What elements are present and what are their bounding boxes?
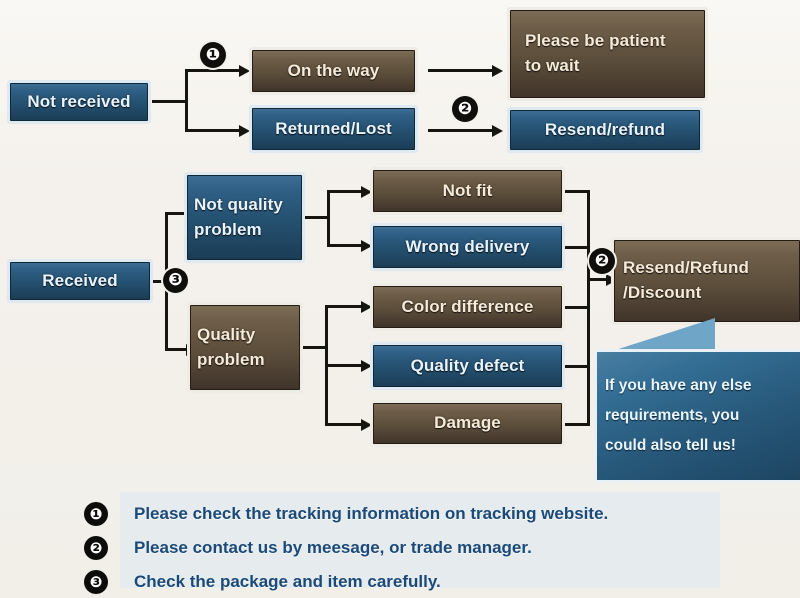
node-quality-problem[interactable]: Quality problem bbox=[190, 305, 300, 390]
node-on-the-way-label: On the way bbox=[288, 59, 380, 84]
node-color-difference-label: Color difference bbox=[402, 295, 534, 320]
legend-badge-2-label: ❷ bbox=[90, 539, 103, 557]
node-not-received[interactable]: Not received bbox=[10, 83, 148, 121]
node-not-quality-line1: Not quality bbox=[194, 193, 283, 218]
legend-badge-3-label: ❸ bbox=[90, 573, 103, 591]
arrow-to-not-fit bbox=[361, 186, 372, 198]
arrow-to-damage bbox=[361, 419, 372, 431]
connector-notreceived-stem bbox=[152, 100, 188, 103]
node-quality-defect[interactable]: Quality defect bbox=[373, 345, 562, 387]
node-color-difference[interactable]: Color difference bbox=[373, 286, 562, 328]
callout-line2: requirements, you bbox=[605, 401, 792, 431]
callout-bubble: If you have any else requirements, you c… bbox=[597, 300, 800, 480]
connector-merge-bus bbox=[587, 190, 590, 426]
node-resend-refund-discount-line1: Resend/Refund bbox=[623, 256, 749, 281]
node-damage[interactable]: Damage bbox=[373, 403, 562, 444]
connector-to-wrongdelivery bbox=[327, 244, 363, 247]
node-not-quality-line2: problem bbox=[194, 218, 283, 243]
node-be-patient-line2: to wait bbox=[525, 54, 666, 79]
connector-colordiff-out bbox=[562, 306, 590, 309]
connector-qualitydefect-out bbox=[562, 365, 590, 368]
legend: ❶ Please check the tracking information … bbox=[0, 488, 800, 598]
badge-one-top-label: ❶ bbox=[206, 47, 220, 64]
connector-returned-to-resend bbox=[428, 129, 494, 132]
legend-badge-1: ❶ bbox=[84, 502, 108, 526]
node-quality-line2: problem bbox=[197, 348, 265, 373]
legend-text-2: Please contact us by meesage, or trade m… bbox=[134, 538, 532, 558]
node-received[interactable]: Received bbox=[10, 262, 150, 300]
arrow-to-ontheway bbox=[239, 65, 250, 77]
node-damage-label: Damage bbox=[434, 411, 501, 436]
connector-to-ontheway bbox=[185, 69, 241, 72]
badge-two-top: ❷ bbox=[452, 96, 478, 122]
node-be-patient-line1: Please be patient bbox=[525, 29, 666, 54]
legend-badge-2: ❷ bbox=[84, 536, 108, 560]
callout-line3: could also tell us! bbox=[605, 431, 792, 461]
badge-two-top-label: ❷ bbox=[458, 101, 472, 118]
connector-quality-stem bbox=[300, 346, 328, 349]
flowchart-canvas: Not received ❶ On the way Returned/Lost … bbox=[0, 0, 800, 598]
connector-notquality-stem bbox=[302, 216, 330, 219]
connector-notquality-bus bbox=[327, 190, 330, 246]
connector-wrongdelivery-out bbox=[562, 246, 590, 249]
legend-item-3: ❸ Check the package and item carefully. bbox=[84, 570, 441, 594]
badge-three-middle: ❸ bbox=[163, 268, 188, 293]
connector-to-damage bbox=[325, 423, 363, 426]
node-received-label: Received bbox=[42, 269, 117, 294]
legend-text-3: Check the package and item carefully. bbox=[134, 572, 441, 592]
node-quality-line1: Quality bbox=[197, 323, 265, 348]
node-resend-refund[interactable]: Resend/refund bbox=[510, 110, 700, 150]
node-be-patient[interactable]: Please be patient to wait bbox=[510, 10, 705, 98]
legend-text-1: Please check the tracking information on… bbox=[134, 504, 608, 524]
connector-ontheway-to-patient bbox=[428, 69, 494, 72]
badge-two-middle-label: ❷ bbox=[595, 253, 609, 270]
arrow-to-color-difference bbox=[361, 301, 372, 313]
connector-to-notfit bbox=[327, 190, 363, 193]
arrow-to-wrong-delivery bbox=[361, 240, 372, 252]
callout-bubble-text: If you have any else requirements, you c… bbox=[597, 352, 800, 480]
connector-notfit-out bbox=[562, 190, 590, 193]
arrow-to-quality-defect bbox=[361, 360, 372, 372]
badge-one-top: ❶ bbox=[200, 42, 226, 68]
connector-to-colordiff bbox=[325, 305, 363, 308]
legend-item-2: ❷ Please contact us by meesage, or trade… bbox=[84, 536, 532, 560]
connector-to-returnedlost bbox=[185, 129, 241, 132]
node-not-fit-label: Not fit bbox=[443, 179, 493, 204]
connector-damage-out bbox=[562, 423, 590, 426]
node-not-received-label: Not received bbox=[27, 90, 130, 115]
connector-to-qualitydefect bbox=[325, 364, 363, 367]
node-wrong-delivery-label: Wrong delivery bbox=[406, 235, 530, 260]
badge-three-middle-label: ❸ bbox=[168, 272, 182, 289]
node-on-the-way[interactable]: On the way bbox=[252, 50, 415, 92]
legend-badge-3: ❸ bbox=[84, 570, 108, 594]
arrow-to-resend-refund bbox=[492, 125, 503, 137]
node-quality-defect-label: Quality defect bbox=[411, 354, 525, 379]
node-returned-lost[interactable]: Returned/Lost bbox=[252, 108, 415, 150]
callout-bubble-tail bbox=[603, 318, 715, 354]
callout-line1: If you have any else bbox=[605, 371, 792, 401]
legend-item-1: ❶ Please check the tracking information … bbox=[84, 502, 608, 526]
connector-notreceived-bus bbox=[185, 69, 188, 132]
badge-two-middle: ❷ bbox=[589, 248, 615, 274]
node-not-quality-problem[interactable]: Not quality problem bbox=[187, 175, 302, 260]
legend-badge-1-label: ❶ bbox=[90, 505, 103, 523]
node-resend-refund-label: Resend/refund bbox=[545, 118, 665, 143]
arrow-to-be-patient bbox=[492, 65, 503, 77]
node-returned-lost-label: Returned/Lost bbox=[275, 117, 392, 142]
node-not-fit[interactable]: Not fit bbox=[373, 170, 562, 212]
node-wrong-delivery[interactable]: Wrong delivery bbox=[373, 226, 562, 268]
arrow-to-returnedlost bbox=[239, 125, 250, 137]
